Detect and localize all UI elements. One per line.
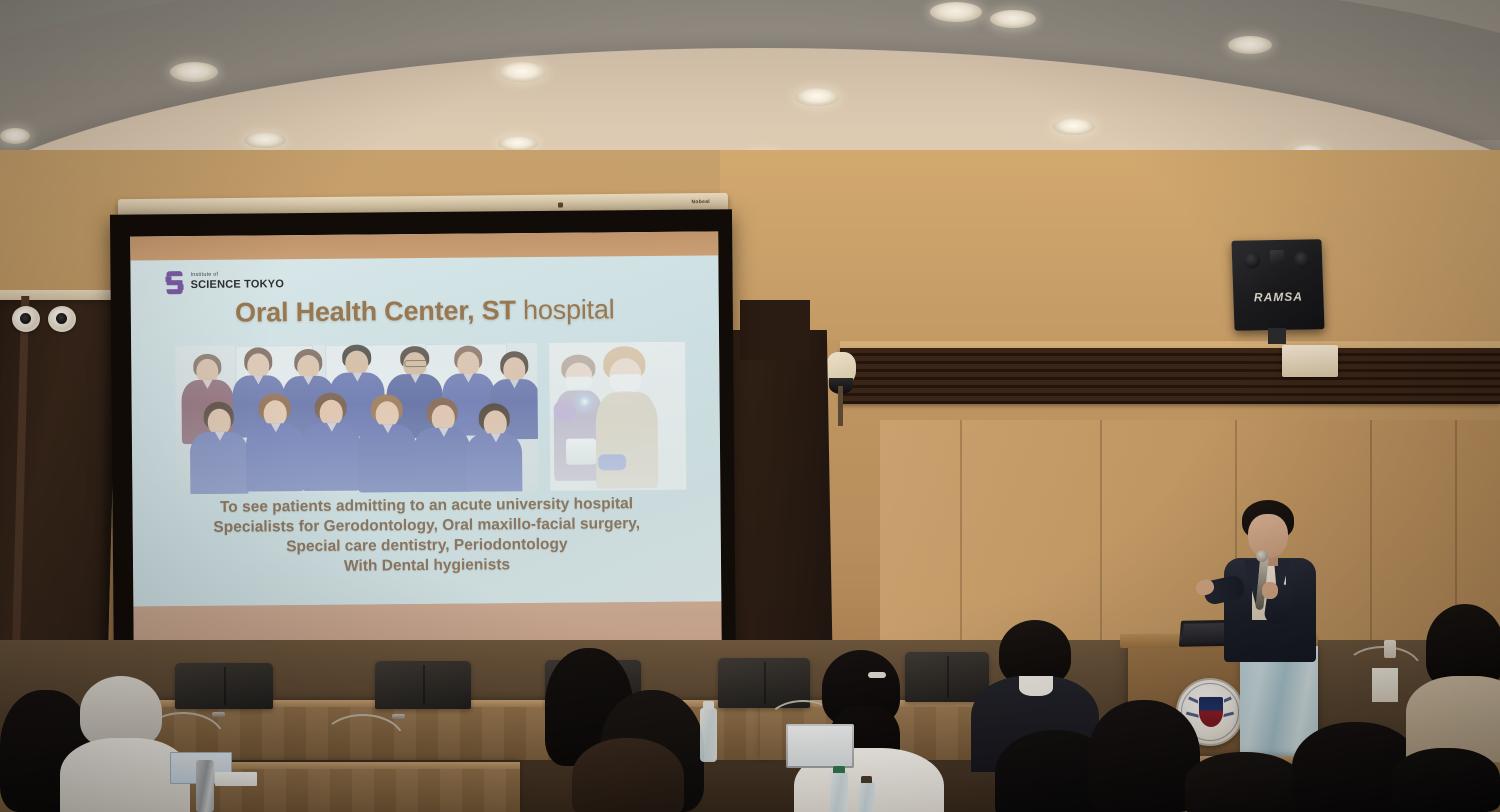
science-tokyo-mark-icon bbox=[164, 270, 184, 294]
slide-title-light: hospital bbox=[516, 294, 615, 325]
audience-chair bbox=[175, 663, 273, 709]
speaker-driver-icon bbox=[1244, 252, 1261, 268]
spotlight-icon bbox=[48, 306, 76, 332]
wall-light-box bbox=[1282, 345, 1338, 377]
downlight-icon bbox=[930, 2, 982, 22]
slide-top-band bbox=[130, 231, 718, 260]
attendee-hair bbox=[1088, 700, 1200, 812]
hair-clip-icon bbox=[868, 672, 886, 678]
science-tokyo-logo: Institute of SCIENCE TOKYO bbox=[164, 269, 284, 294]
wall-outlet-icon bbox=[1384, 640, 1396, 658]
downlight-icon bbox=[795, 88, 839, 106]
presentation-slide: Institute of SCIENCE TOKYO Oral Health C… bbox=[130, 231, 721, 606]
photo-projection-wash bbox=[549, 342, 686, 491]
screen-brand-label: Nobeal bbox=[691, 199, 710, 205]
shirt-collar bbox=[1019, 676, 1053, 696]
microphone-base bbox=[392, 714, 405, 719]
slide-body-line: With Dental hygienists bbox=[133, 554, 721, 579]
logo-main-line: SCIENCE TOKYO bbox=[191, 279, 285, 291]
attendee-laptop[interactable] bbox=[786, 724, 854, 768]
lecture-hall-scene: RAMSA Nobeal bbox=[0, 0, 1500, 812]
clinical-procedure-photo bbox=[549, 342, 686, 491]
upper-wall-strip bbox=[720, 150, 1500, 340]
presenter-right-hand bbox=[1262, 582, 1278, 599]
audience-chair bbox=[905, 652, 989, 702]
dome-camera-arm bbox=[838, 386, 843, 426]
slide-body-text: To see patients admitting to an acute un… bbox=[132, 493, 721, 579]
photo-projection-wash bbox=[175, 343, 538, 494]
projection-screen-surface: Institute of SCIENCE TOKYO Oral Health C… bbox=[130, 231, 722, 666]
desk-paper bbox=[215, 772, 257, 786]
right-dark-curtain-upper bbox=[740, 300, 810, 360]
ramsa-speaker: RAMSA bbox=[1231, 239, 1324, 331]
attendee-hair bbox=[1185, 752, 1303, 812]
housing-screw-icon bbox=[558, 203, 563, 208]
audience-chair bbox=[375, 661, 471, 709]
staff-group-photo bbox=[175, 343, 538, 494]
slide-title-bold: Oral Health Center, ST bbox=[235, 295, 516, 327]
wall-notice-paper bbox=[1372, 668, 1398, 702]
downlight-icon bbox=[1228, 36, 1272, 54]
projection-screen-frame: Institute of SCIENCE TOKYO Oral Health C… bbox=[110, 209, 736, 684]
spotlight-icon bbox=[12, 306, 40, 332]
downlight-icon bbox=[170, 62, 218, 82]
downlight-icon bbox=[0, 128, 30, 144]
attendee-hair bbox=[572, 738, 684, 812]
microphone-head-icon bbox=[1256, 550, 1268, 562]
downlight-icon bbox=[1053, 118, 1095, 135]
downlight-icon bbox=[498, 136, 538, 151]
water-bottle bbox=[700, 708, 717, 762]
downlight-icon bbox=[990, 10, 1036, 28]
water-bottle bbox=[830, 772, 848, 812]
downlight-icon bbox=[498, 62, 546, 82]
speaker-horn-icon bbox=[1270, 250, 1284, 264]
attendee-hair bbox=[1392, 748, 1500, 812]
seal-shield-icon bbox=[1198, 696, 1224, 728]
speaker-driver-icon bbox=[1294, 251, 1311, 267]
presenter-face bbox=[1248, 514, 1288, 558]
presenter bbox=[1200, 500, 1330, 660]
slide-title: Oral Health Center, ST hospital bbox=[131, 293, 719, 329]
water-bottle bbox=[858, 782, 875, 812]
speaker-brand-label: RAMSA bbox=[1233, 289, 1323, 305]
desk-tumbler bbox=[196, 760, 214, 812]
microphone-base bbox=[212, 712, 225, 717]
downlight-icon bbox=[244, 132, 286, 148]
wall-slat-band bbox=[840, 348, 1500, 404]
speaker-mount-bracket bbox=[1268, 328, 1286, 344]
